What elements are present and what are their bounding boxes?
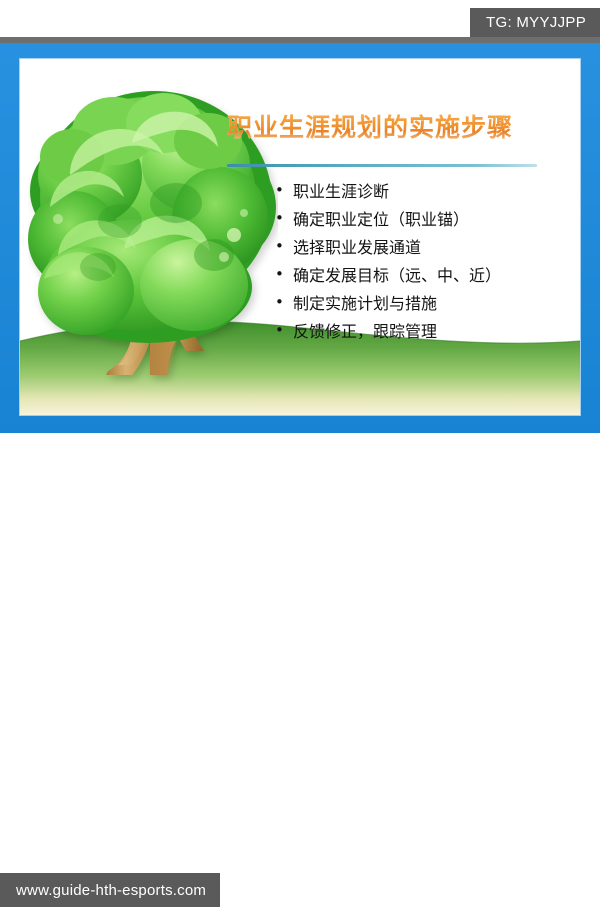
top-white-strip: TG: MYYJJPP <box>0 0 600 37</box>
list-item: 职业生涯诊断 <box>273 181 573 202</box>
title-block: 职业生涯规划的实施步骤 <box>227 114 547 143</box>
list-item: 选择职业发展通道 <box>273 237 573 258</box>
list-item: 反馈修正，跟踪管理 <box>273 321 573 342</box>
list-item: 制定实施计划与措施 <box>273 293 573 314</box>
title-underline-rule <box>227 164 537 167</box>
page-title: 职业生涯规划的实施步骤 <box>227 114 547 143</box>
bottom-white-strip: www.guide-hth-esports.com <box>0 433 600 480</box>
list-item: 确定发展目标（远、中、近） <box>273 265 573 286</box>
list-item: 确定职业定位（职业锚） <box>273 209 573 230</box>
tg-watermark-badge: TG: MYYJJPP <box>470 8 600 37</box>
bullet-list: 职业生涯诊断 确定职业定位（职业锚） 选择职业发展通道 确定发展目标（远、中、近… <box>273 181 573 349</box>
site-watermark: www.guide-hth-esports.com <box>0 873 220 907</box>
slide-canvas: 职业生涯规划的实施步骤 职业生涯诊断 确定职业定位（职业锚） 选择职业发展通道 … <box>20 59 580 415</box>
